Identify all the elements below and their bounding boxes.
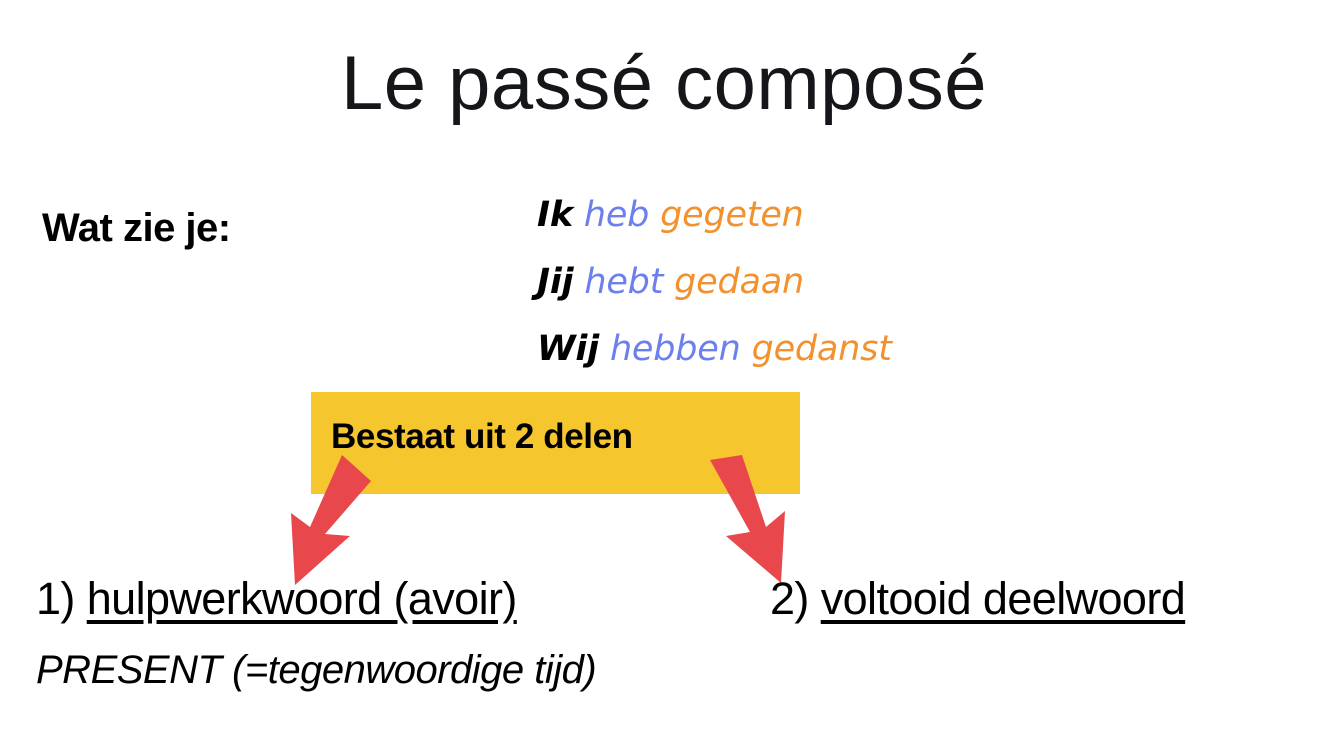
tense-note: PRESENT (=tegenwoordige tijd)	[36, 648, 596, 692]
example-sentence-3: Wij hebben gedanst	[537, 316, 1137, 383]
example-2-auxiliary: hebt	[584, 262, 663, 302]
example-1-participle: gegeten	[660, 195, 804, 235]
part-one-number: 1)	[36, 573, 75, 624]
example-2-pronoun: Jij	[537, 262, 573, 302]
example-2-participle: gedaan	[674, 262, 804, 302]
slide-canvas: { "slide": { "title": "Le passé composé"…	[0, 0, 1328, 749]
part-two-term: voltooid deelwoord	[821, 573, 1185, 624]
part-one-label: 1) hulpwerkwoord (avoir)	[36, 574, 517, 624]
example-3-pronoun: Wij	[537, 329, 599, 369]
prompt-label: Wat zie je:	[42, 206, 231, 250]
example-sentence-2: Jij hebt gedaan	[537, 249, 1137, 316]
example-1-pronoun: Ik	[537, 195, 573, 235]
part-one-term: hulpwerkwoord (avoir)	[87, 573, 517, 624]
page-title: Le passé composé	[0, 46, 1328, 122]
example-sentence-1: Ik heb gegeten	[537, 182, 1137, 249]
example-3-participle: gedanst	[752, 329, 892, 369]
highlight-callout-box: Bestaat uit 2 delen	[311, 392, 800, 494]
part-two-number: 2)	[770, 573, 809, 624]
part-two-label: 2) voltooid deelwoord	[770, 574, 1185, 624]
example-1-auxiliary: heb	[584, 195, 649, 235]
highlight-callout-text: Bestaat uit 2 delen	[331, 418, 633, 457]
example-3-auxiliary: hebben	[610, 329, 741, 369]
example-sentence-list: Ik heb gegeten Jij hebt gedaan Wij hebbe…	[537, 182, 1137, 383]
